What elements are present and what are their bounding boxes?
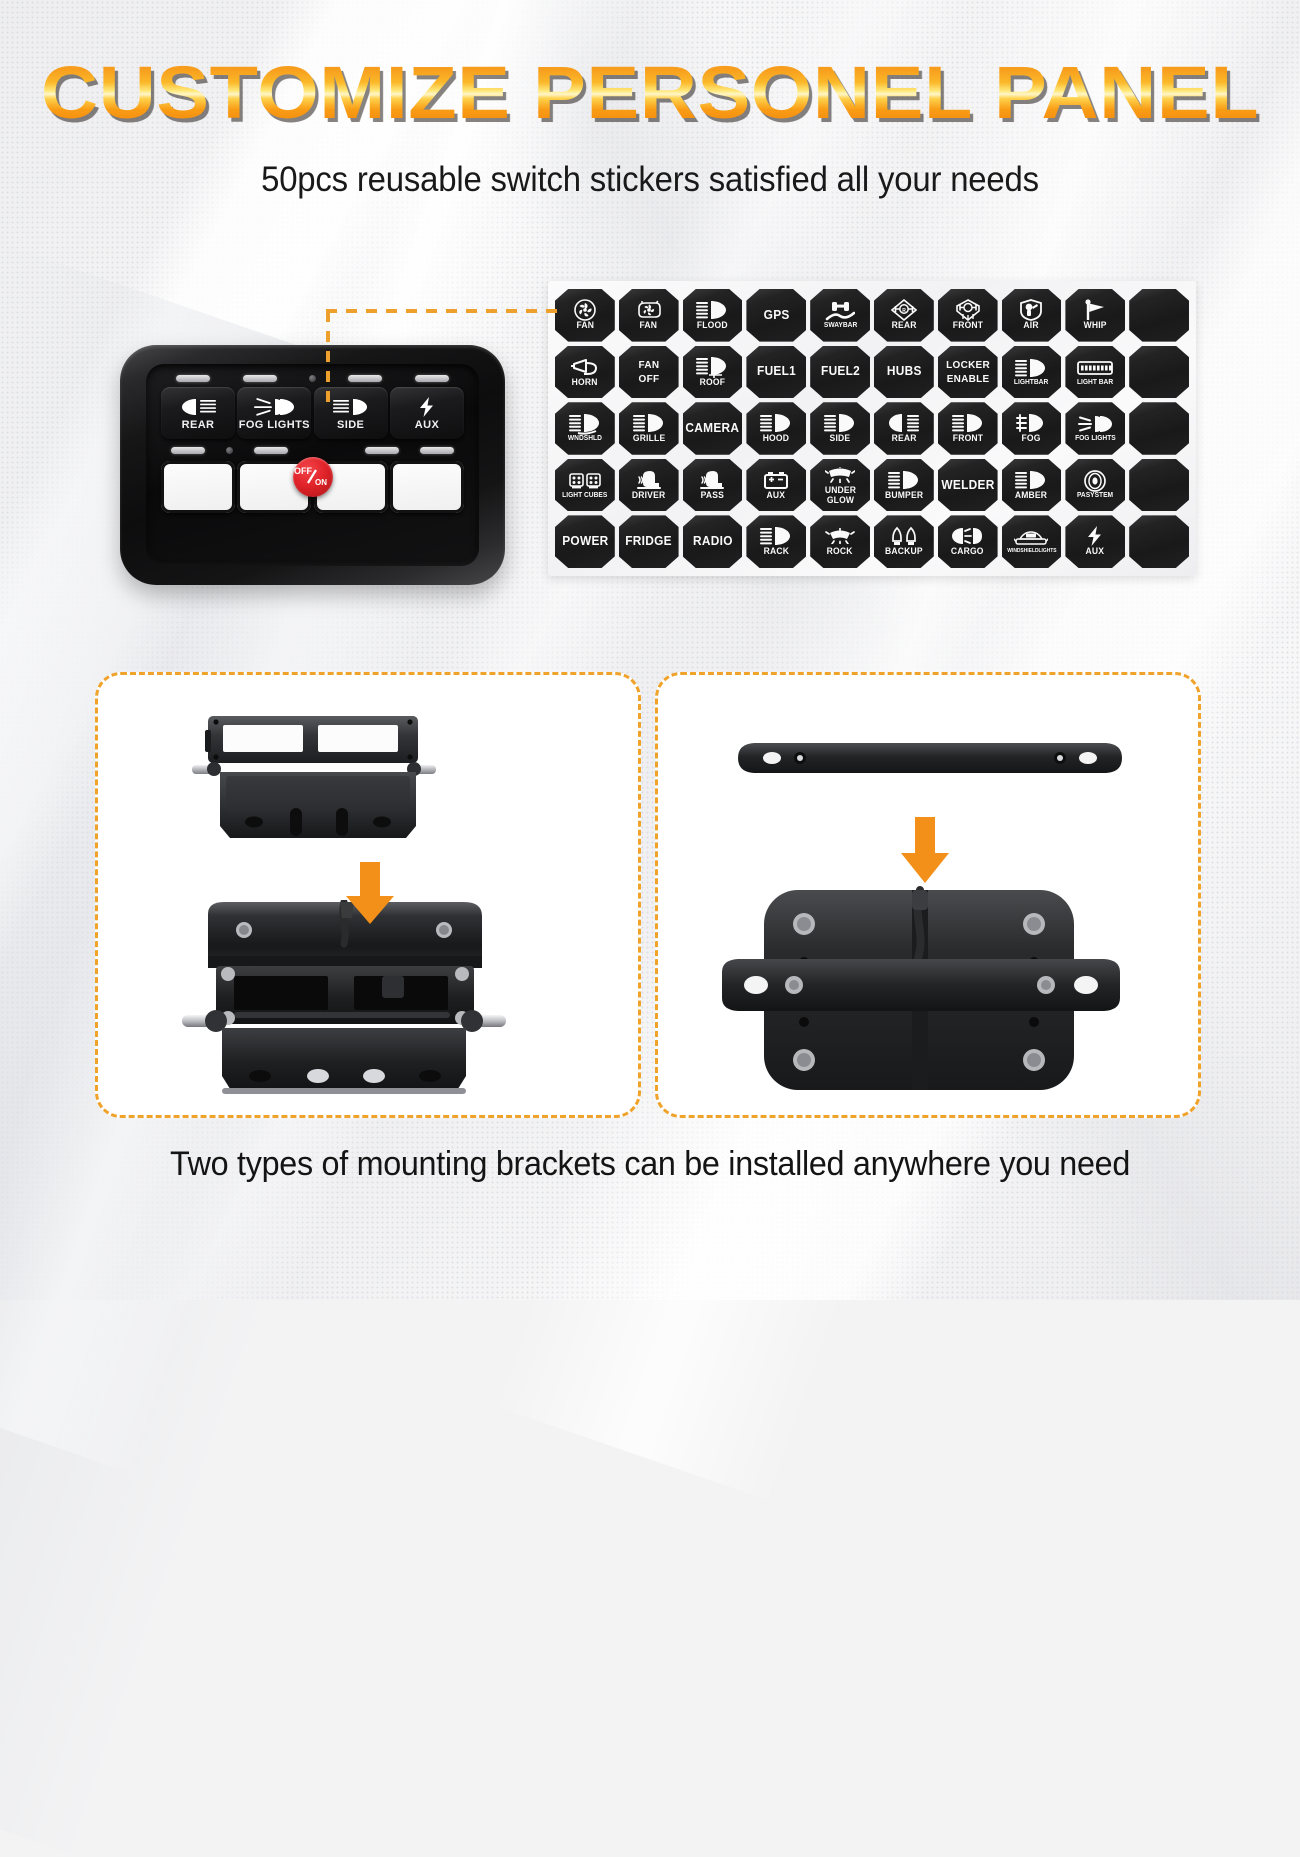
sticker-label: FLOOD: [697, 321, 728, 330]
switch-key-side[interactable]: SIDE: [314, 387, 388, 439]
sticker-horn[interactable]: HORN: [555, 346, 615, 399]
sticker-fuel2[interactable]: FUEL2: [810, 346, 870, 399]
switch-key-label: AUX: [415, 419, 439, 431]
side-light-icon: [329, 396, 373, 418]
sticker-label: GRILLE: [632, 434, 664, 443]
sticker-fan[interactable]: FAN: [555, 289, 615, 342]
air-compressor-icon: [1002, 300, 1062, 320]
sticker-label: FRONT: [952, 321, 982, 330]
sticker-welder[interactable]: WELDER: [938, 459, 998, 512]
sticker-power[interactable]: POWER: [555, 515, 615, 568]
led-indicator: [420, 447, 454, 454]
sticker-fan-off[interactable]: FANOFF: [619, 346, 679, 399]
sticker-aux[interactable]: AUX: [746, 459, 806, 512]
status-led-dot: [226, 447, 233, 454]
sticker-wndshld[interactable]: WNDSHLD: [555, 402, 615, 455]
sticker-fridge[interactable]: FRIDGE: [619, 515, 679, 568]
sticker-label: HUBS: [886, 365, 921, 378]
sticker-blank[interactable]: [1129, 459, 1189, 512]
sticker-light-cubes[interactable]: LIGHT CUBES: [555, 459, 615, 512]
svg-text:OFF: OFF: [294, 466, 312, 476]
sticker-label: BUMPER: [885, 491, 923, 500]
heated-seat-icon: [683, 470, 743, 490]
switch-key-fog-lights[interactable]: FOG LIGHTS: [237, 387, 311, 439]
switch-key-blank[interactable]: [161, 461, 235, 513]
sticker-label: FUEL2: [821, 365, 860, 378]
led-indicator: [176, 375, 210, 382]
under-glow-icon: [810, 465, 870, 485]
sticker-rear[interactable]: REAR: [874, 402, 934, 455]
mounting-plate-with-windows: [178, 710, 558, 880]
switch-row-top: REAR FOG LIGHTS: [156, 384, 469, 439]
sticker-blank[interactable]: [1129, 289, 1189, 342]
sticker-label: AUX: [1086, 547, 1105, 556]
led-indicator: [348, 375, 382, 382]
switch-key-aux[interactable]: AUX: [390, 387, 464, 439]
sticker-label: HOOD: [763, 434, 789, 443]
sticker-label: FUEL1: [757, 365, 796, 378]
switch-key-blank[interactable]: [390, 461, 464, 513]
sticker-label: LOCKERENABLE: [946, 358, 990, 386]
led-indicator: [171, 447, 205, 454]
sticker-label: FANOFF: [638, 358, 659, 386]
sticker-label: FAN: [640, 321, 658, 330]
sticker-label: RACK: [764, 547, 789, 556]
whip-flag-icon: [1065, 300, 1125, 320]
switch-key-rear[interactable]: REAR: [161, 387, 235, 439]
amber-light-icon: [1002, 470, 1062, 490]
sticker-lightbar[interactable]: LIGHTBAR: [1002, 346, 1062, 399]
front-locker-icon: [938, 300, 998, 320]
swaybar-icon: [810, 301, 870, 321]
rack-light-icon: [746, 526, 806, 546]
sticker-label: POWER: [562, 535, 608, 548]
sticker-label: FOG LIGHTS: [1075, 435, 1116, 442]
grille-light-icon: [619, 413, 679, 433]
sticker-label: REAR: [891, 434, 916, 443]
led-indicator-row-top: [156, 373, 469, 384]
sticker-label: UNDERGLOW: [824, 486, 855, 505]
sticker-side[interactable]: SIDE: [810, 402, 870, 455]
sticker-label: FOG: [1022, 434, 1041, 443]
roof-light-icon: [683, 357, 743, 377]
page-subtitle: 50pcs reusable switch stickers satisfied…: [39, 160, 1261, 200]
rear-light-icon: [874, 413, 934, 433]
sticker-light-bar[interactable]: LIGHT BAR: [1065, 346, 1125, 399]
sticker-label: WNDSHLD: [568, 435, 602, 442]
sticker-blank[interactable]: [1129, 402, 1189, 455]
sticker-front[interactable]: FRONT: [938, 402, 998, 455]
sticker-label: GPS: [763, 309, 789, 322]
sticker-swaybar[interactable]: SWAYBAR: [810, 289, 870, 342]
rock-light-icon: [810, 526, 870, 546]
hood-light-icon: [746, 413, 806, 433]
sticker-aux[interactable]: AUX: [1065, 515, 1125, 568]
sticker-amber[interactable]: AMBER: [1002, 459, 1062, 512]
sticker-label: WINDSHIELDLIGHTS: [1007, 549, 1056, 554]
sticker-label: WELDER: [941, 479, 994, 492]
sticker-blank[interactable]: [1129, 515, 1189, 568]
sticker-label: FRONT: [952, 434, 982, 443]
sticker-gps[interactable]: GPS: [746, 289, 806, 342]
sticker-label: PASS: [701, 491, 724, 500]
sticker-label: HORN: [572, 378, 598, 387]
sticker-label: FAN: [576, 321, 594, 330]
sticker-locker-enable[interactable]: LOCKERENABLE: [938, 346, 998, 399]
lightning-bolt-icon: [1065, 526, 1125, 546]
sticker-whip[interactable]: WHIP: [1065, 289, 1125, 342]
switch-key-label: FOG LIGHTS: [239, 419, 310, 431]
fog-beam-icon: [1002, 413, 1062, 433]
sticker-label: RADIO: [693, 535, 733, 548]
switch-key-label: SIDE: [337, 419, 364, 431]
lightbar-beam-icon: [1002, 358, 1062, 378]
backup-lights-icon: [874, 526, 934, 546]
side-light-icon: [810, 413, 870, 433]
sticker-label: REAR: [891, 321, 916, 330]
sticker-rack[interactable]: RACK: [746, 515, 806, 568]
sticker-label: ROCK: [827, 547, 853, 556]
front-light-icon: [938, 413, 998, 433]
sticker-hood[interactable]: HOOD: [746, 402, 806, 455]
windshield-bar-icon: [1002, 528, 1062, 548]
speaker-icon: [1065, 471, 1125, 491]
cargo-lights-icon: [938, 526, 998, 546]
sticker-front[interactable]: FRONT: [938, 289, 998, 342]
sticker-rear[interactable]: RREAR: [874, 289, 934, 342]
sticker-cargo[interactable]: CARGO: [938, 515, 998, 568]
swivel-bracket-assembled: [172, 900, 572, 1110]
sticker-fog[interactable]: FOG: [1002, 402, 1062, 455]
lightbar-row-icon: [1065, 358, 1125, 378]
sticker-label: AIR: [1024, 321, 1039, 330]
sticker-bumper[interactable]: BUMPER: [874, 459, 934, 512]
sticker-label: WHIP: [1084, 321, 1107, 330]
sticker-label: AMBER: [1015, 491, 1047, 500]
fan-blade-icon: [555, 300, 615, 320]
led-indicator: [415, 375, 449, 382]
sticker-label: LIGHTBAR: [1014, 379, 1048, 386]
battery-icon: [746, 470, 806, 490]
sticker-grid: FANFANFLOODGPSSWAYBARRREARFRONTAIRWHIPHO…: [555, 289, 1189, 568]
sticker-sheet[interactable]: FANFANFLOODGPSSWAYBARRREARFRONTAIRWHIPHO…: [548, 281, 1196, 576]
heated-seat-icon: [619, 470, 679, 490]
sticker-label: LIGHT BAR: [1077, 379, 1113, 386]
switch-key-label: REAR: [182, 419, 215, 431]
lightning-bolt-icon: [417, 396, 437, 418]
flat-strap-bracket: [730, 730, 1130, 790]
sticker-label: FRIDGE: [625, 535, 672, 548]
assembly-arrow-down: [895, 815, 955, 887]
rear-light-icon: [176, 396, 220, 418]
light-cubes-icon: [555, 471, 615, 491]
sticker-blank[interactable]: [1129, 346, 1189, 399]
led-indicator: [243, 375, 277, 382]
sticker-under-glow[interactable]: UNDERGLOW: [810, 459, 870, 512]
sticker-fan[interactable]: FAN: [619, 289, 679, 342]
sticker-camera[interactable]: CAMERA: [683, 402, 743, 455]
sticker-radio[interactable]: RADIO: [683, 515, 743, 568]
sticker-label: SWAYBAR: [823, 322, 856, 329]
sticker-hubs[interactable]: HUBS: [874, 346, 934, 399]
flood-light-icon: [683, 300, 743, 320]
bumper-light-icon: [874, 470, 934, 490]
engine-fan-icon: [619, 300, 679, 320]
sticker-label: CAMERA: [686, 422, 740, 435]
sticker-label: PASYSTEM: [1077, 492, 1113, 499]
switch-panel[interactable]: REAR FOG LIGHTS: [120, 345, 505, 585]
svg-text:R: R: [902, 308, 906, 314]
sticker-flood[interactable]: FLOOD: [683, 289, 743, 342]
sticker-windshieldlights[interactable]: WINDSHIELDLIGHTS: [1002, 515, 1062, 568]
led-indicator: [365, 447, 399, 454]
panel-rear-with-strap: [712, 880, 1152, 1110]
sticker-backup[interactable]: BACKUP: [874, 515, 934, 568]
horn-icon: [555, 357, 615, 377]
fog-lights-icon: [248, 396, 300, 418]
sticker-label: SIDE: [830, 434, 851, 443]
sticker-label: LIGHT CUBES: [562, 492, 607, 499]
page-title: CUSTOMIZE PERSONEL PANEL: [0, 50, 1300, 135]
sticker-label: ROOF: [700, 378, 725, 387]
sticker-air[interactable]: AIR: [1002, 289, 1062, 342]
sticker-label: AUX: [767, 491, 786, 500]
power-off-on-button[interactable]: OFF ON: [293, 457, 333, 497]
sticker-label: BACKUP: [885, 547, 923, 556]
sticker-grille[interactable]: GRILLE: [619, 402, 679, 455]
led-indicator-row-bottom: [156, 445, 469, 456]
bottom-caption: Two types of mounting brackets can be in…: [33, 1145, 1268, 1184]
fog-lights-icon: [1065, 414, 1125, 434]
rear-locker-icon: R: [874, 300, 934, 320]
sticker-fog-lights[interactable]: FOG LIGHTS: [1065, 402, 1125, 455]
assembly-arrow-down: [340, 860, 400, 928]
status-led-dot: [309, 375, 316, 382]
svg-text:ON: ON: [315, 478, 327, 487]
sticker-rock[interactable]: ROCK: [810, 515, 870, 568]
sticker-label: CARGO: [951, 547, 984, 556]
sticker-fuel1[interactable]: FUEL1: [746, 346, 806, 399]
sticker-label: DRIVER: [632, 491, 665, 500]
sticker-pass[interactable]: PASS: [683, 459, 743, 512]
sticker-pasystem[interactable]: PASYSTEM: [1065, 459, 1125, 512]
windshield-light-icon: [555, 414, 615, 434]
sticker-driver[interactable]: DRIVER: [619, 459, 679, 512]
led-indicator: [254, 447, 288, 454]
sticker-roof[interactable]: ROOF: [683, 346, 743, 399]
